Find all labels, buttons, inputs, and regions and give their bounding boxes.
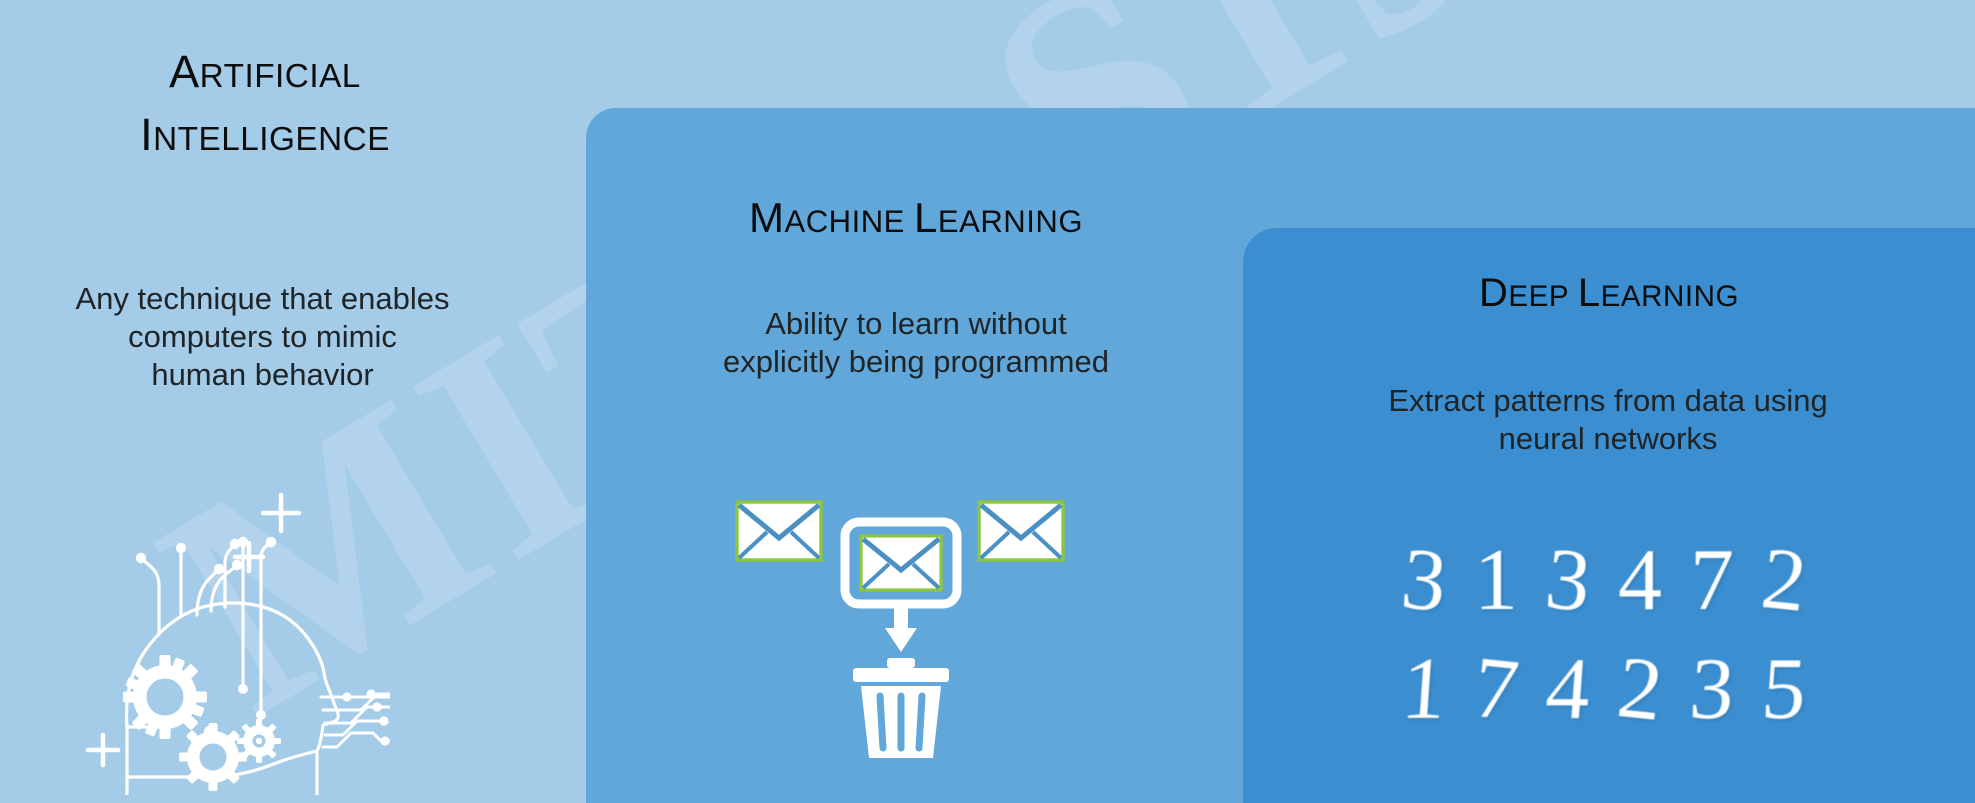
ai-description-line: Any technique that enables xyxy=(35,280,490,318)
trash-can-icon xyxy=(853,658,949,758)
ai-title-rest-2: NTELLIGENCE xyxy=(153,121,390,158)
dl-title-initial-1: D xyxy=(1479,271,1508,315)
ml-title: MACHINE LEARNING xyxy=(586,195,1246,240)
digit: 2 xyxy=(1751,534,1818,628)
digit: 3 xyxy=(1535,534,1602,628)
envelope-icon-right xyxy=(979,502,1063,560)
envelope-icon-left xyxy=(737,502,821,560)
digit: 5 xyxy=(1752,646,1816,734)
spam-email-trash-svg xyxy=(735,490,1065,760)
dl-title-rest-1: EEP xyxy=(1508,280,1569,313)
ml-description: Ability to learn without explicitly bein… xyxy=(601,305,1231,381)
digit: 3 xyxy=(1391,534,1458,628)
ai-description: Any technique that enables computers to … xyxy=(35,280,490,393)
flagged-envelope-icon xyxy=(845,522,957,604)
dl-title-rest-2: EARNING xyxy=(1601,280,1739,313)
handwritten-digits-icon: 3 1 3 4 7 2 1 7 4 2 3 5 xyxy=(1395,520,1845,770)
digit: 4 xyxy=(1536,646,1600,734)
digit: 3 xyxy=(1680,646,1744,734)
infographic-canvas: MIT 6.S191 ARTIFICIAL INTELLIGENCE Any t… xyxy=(0,0,1975,803)
digit: 1 xyxy=(1467,537,1525,625)
head-gears-circuit-svg xyxy=(85,465,390,795)
digit: 7 xyxy=(1683,537,1741,625)
ai-title-initial-2: I xyxy=(140,109,153,160)
ai-title-initial-1: A xyxy=(169,46,200,97)
spam-email-trash-icon xyxy=(735,490,1065,760)
ml-title-initial-2: L xyxy=(914,194,938,241)
ml-title-rest-2: EARNING xyxy=(938,204,1083,239)
dl-description: Extract patterns from data using neural … xyxy=(1283,382,1933,458)
ml-description-line: Ability to learn without xyxy=(601,305,1231,343)
digit: 7 xyxy=(1463,643,1530,737)
head-gears-circuit-icon xyxy=(85,465,390,795)
ml-title-rest-1: ACHINE xyxy=(784,204,904,239)
digit-row-1: 3 1 3 4 7 2 xyxy=(1395,520,1845,625)
dl-title-initial-2: L xyxy=(1578,271,1601,315)
digit-row-2: 1 7 4 2 3 5 xyxy=(1395,629,1845,734)
ml-title-initial-1: M xyxy=(749,194,785,241)
ai-description-line: human behavior xyxy=(35,356,490,394)
digit: 2 xyxy=(1607,643,1674,737)
arrow-down-icon xyxy=(885,602,917,652)
dl-description-line: neural networks xyxy=(1283,420,1933,458)
ai-title: ARTIFICIAL INTELLIGENCE xyxy=(60,48,470,159)
ml-description-line: explicitly being programmed xyxy=(601,343,1231,381)
digit: 1 xyxy=(1392,646,1456,734)
digit: 4 xyxy=(1611,537,1669,625)
ai-title-rest-1: RTIFICIAL xyxy=(200,58,361,95)
dl-title: DEEP LEARNING xyxy=(1243,272,1975,315)
dl-description-line: Extract patterns from data using xyxy=(1283,382,1933,420)
ai-description-line: computers to mimic xyxy=(35,318,490,356)
